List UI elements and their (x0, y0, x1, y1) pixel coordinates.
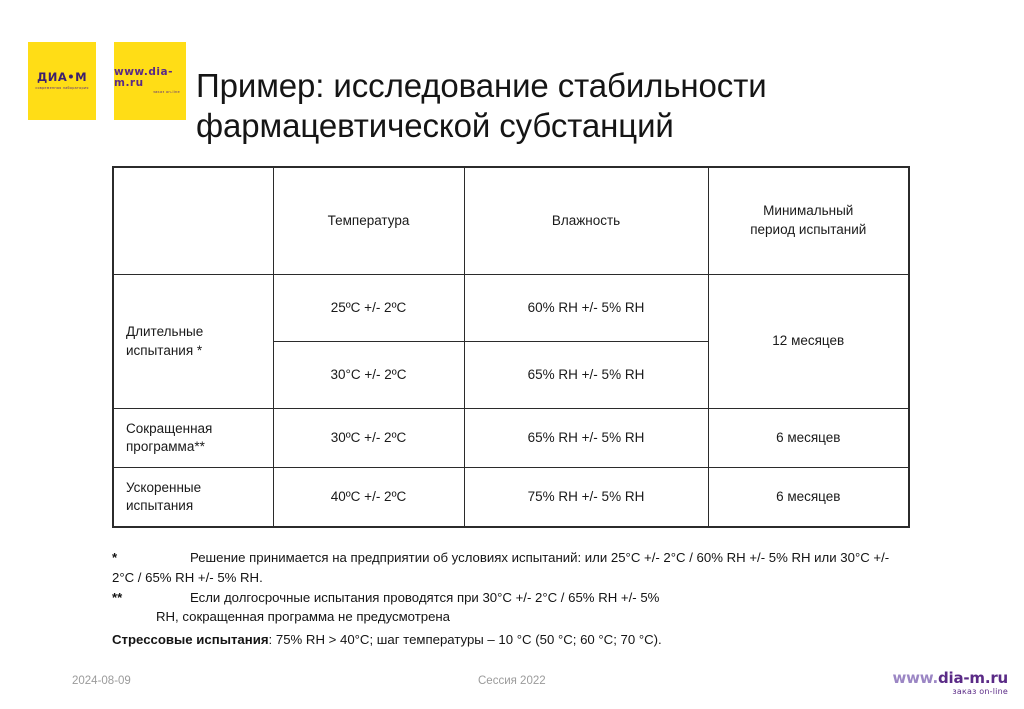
page-title: Пример: исследование стабильности фармац… (196, 66, 986, 147)
period-value-longterm: 12 месяцев (709, 326, 909, 356)
logo-diam-subtitle: современная лаборатория (35, 87, 88, 90)
table-cell-temperature: 40ºC +/- 2ºC (273, 468, 464, 528)
footer-logo: www.dia-m.ru заказ on-line (892, 671, 1008, 696)
footnote-2-marker: ** (112, 588, 190, 608)
table-cell-period-longterm: 12 месяцев (708, 275, 909, 409)
footer-logo-domain: dia-m.ru (938, 669, 1008, 687)
footer-date: 2024-08-09 (72, 675, 131, 687)
humidity-value-row1: 60% RH +/- 5% RH (465, 293, 708, 323)
table-header-cell-humidity: Влажность (464, 167, 708, 275)
stress-testing-text: : 75% RH > 40°C; шаг температуры – 10 °C… (269, 632, 662, 647)
table-row: Сокращенная программа** 30ºC +/- 2ºC 65%… (113, 409, 909, 468)
study-type-longterm-line1: Длительные (126, 324, 203, 339)
humidity-value-row3: 65% RH +/- 5% RH (465, 423, 708, 453)
humidity-value-row2: 65% RH +/- 5% RH (465, 360, 708, 390)
table-cell-humidity: 65% RH +/- 5% RH (464, 409, 708, 468)
table-cell-humidity: 60% RH +/- 5% RH (464, 275, 708, 342)
table-header-cell-period: Минимальный период испытаний (708, 167, 909, 275)
logo-website: www.dia-m.ru заказ on-line (114, 42, 186, 120)
logo-diam: ДИА•М современная лаборатория (28, 42, 96, 120)
table-cell-study-type-longterm: Длительные испытания * (113, 275, 273, 409)
stability-conditions-table: Температура Влажность Минимальный период… (112, 166, 910, 528)
table-cell-temperature: 30°C +/- 2ºC (273, 342, 464, 409)
humidity-value-row4: 75% RH +/- 5% RH (465, 482, 708, 512)
temperature-value-row4: 40ºC +/- 2ºC (274, 482, 464, 512)
table-cell-period-accelerated: 6 месяцев (708, 468, 909, 528)
study-type-reduced-line2: программа** (126, 439, 205, 454)
footer-logo-subtitle: заказ on-line (892, 688, 1008, 696)
footnote-2-text: Если долгосрочные испытания проводятся п… (190, 590, 659, 605)
table-header-cell-blank (113, 167, 273, 275)
temperature-value-row3: 30ºC +/- 2ºC (274, 423, 464, 453)
footnotes-block: *Решение принимается на предприятии об у… (112, 548, 912, 650)
table-cell-temperature: 25ºC +/- 2ºC (273, 275, 464, 342)
slide-footer: 2024-08-09 Сессия 2022 www.dia-m.ru зака… (0, 667, 1024, 709)
table-cell-temperature: 30ºC +/- 2ºC (273, 409, 464, 468)
period-value-reduced: 6 месяцев (709, 423, 909, 453)
table-header-humidity-label: Влажность (465, 206, 708, 237)
table-cell-study-type-reduced: Сокращенная программа** (113, 409, 273, 468)
slide-header: ДИА•М современная лаборатория www.dia-m.… (0, 0, 1024, 150)
temperature-value-row1: 25ºC +/- 2ºC (274, 293, 464, 323)
footnote-2: **Если долгосрочные испытания проводятся… (112, 588, 912, 628)
table-header-period-line2: период испытаний (750, 222, 866, 237)
logo-website-text: www.dia-m.ru (114, 67, 186, 88)
table-header-period-line1: Минимальный (763, 203, 853, 218)
temperature-value-row2: 30°C +/- 2ºC (274, 360, 464, 390)
period-value-accelerated: 6 месяцев (709, 482, 909, 512)
stress-testing-note: Стрессовые испытания: 75% RH > 40°C; шаг… (112, 630, 912, 650)
footnote-1: *Решение принимается на предприятии об у… (112, 548, 912, 588)
footer-session: Сессия 2022 (478, 675, 546, 687)
table-cell-humidity: 75% RH +/- 5% RH (464, 468, 708, 528)
study-type-reduced-line1: Сокращенная (126, 421, 212, 436)
footnote-2-continuation: RH, сокращенная программа не предусмотре… (112, 607, 912, 627)
table-header-blank-label (114, 215, 273, 227)
stress-testing-label: Стрессовые испытания (112, 632, 269, 647)
table-header-temperature-label: Температура (274, 206, 464, 237)
study-type-accelerated-line2: испытания (126, 498, 193, 513)
study-type-accelerated-line1: Ускоренные (126, 480, 201, 495)
logo-diam-text: ДИА•М (37, 72, 87, 84)
table-header-row: Температура Влажность Минимальный период… (113, 167, 909, 275)
logo-website-subtitle: заказ on-line (153, 91, 180, 94)
footer-logo-www: www. (892, 669, 938, 687)
table-cell-study-type-accelerated: Ускоренные испытания (113, 468, 273, 528)
study-type-longterm-line2: испытания * (126, 343, 202, 358)
table-header-cell-temperature: Температура (273, 167, 464, 275)
table-cell-humidity: 65% RH +/- 5% RH (464, 342, 708, 409)
table-row: Ускоренные испытания 40ºC +/- 2ºC 75% RH… (113, 468, 909, 528)
footnote-1-marker: * (112, 548, 190, 568)
table-row: Длительные испытания * 25ºC +/- 2ºC 60% … (113, 275, 909, 342)
footnote-1-text: Решение принимается на предприятии об ус… (112, 550, 889, 585)
table-cell-period-reduced: 6 месяцев (708, 409, 909, 468)
